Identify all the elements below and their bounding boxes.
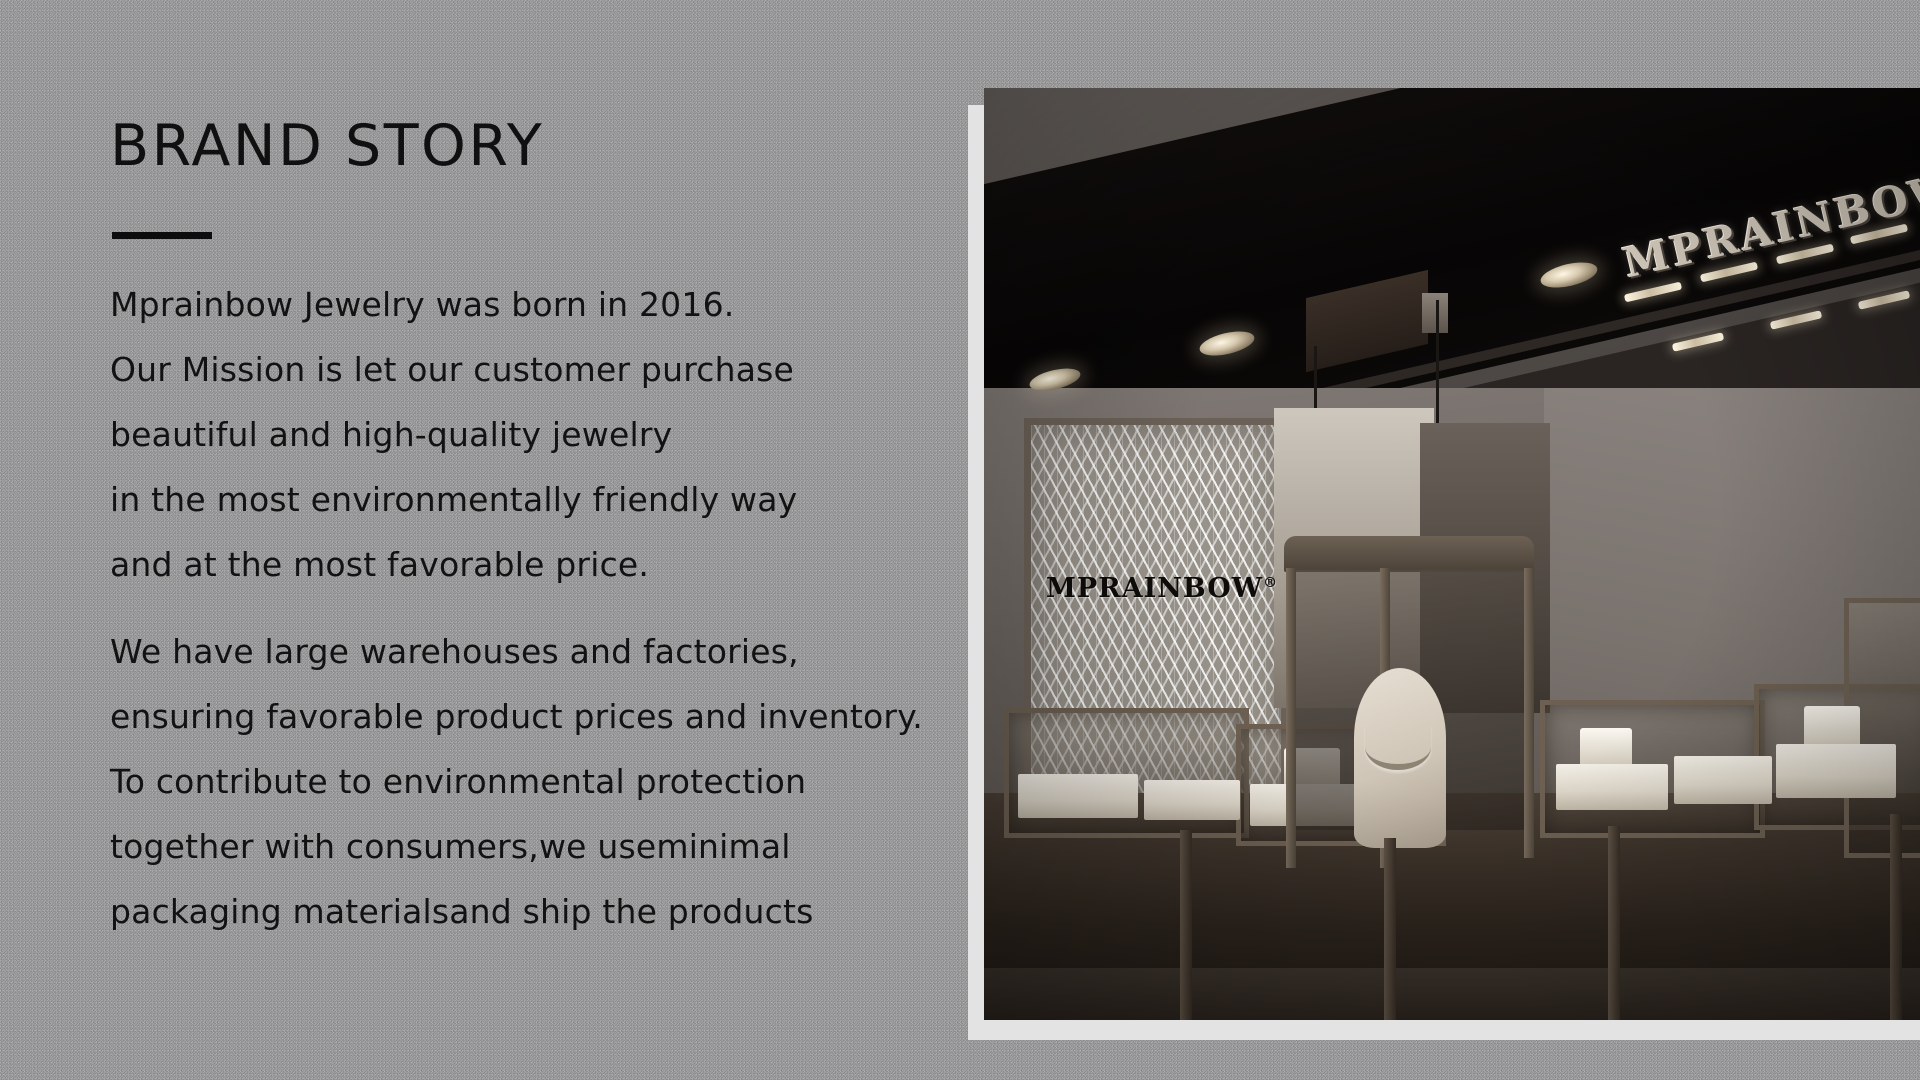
text-column: BRAND STORY Mprainbow Jewelry was born i…: [110, 118, 900, 944]
vitrine-post: [1524, 568, 1534, 858]
counter-leg: [1890, 814, 1902, 1020]
paragraph-spacer: [110, 597, 900, 619]
title-underline-rule: [112, 232, 212, 239]
hanging-panel: [1422, 293, 1448, 333]
paragraph-line: beautiful and high-quality jewelry: [110, 402, 900, 467]
display-riser: [1580, 728, 1632, 768]
paragraph-line: To contribute to environmental protectio…: [110, 749, 900, 814]
jewelry-tray: [1556, 764, 1668, 810]
paragraph-line: ensuring favorable product prices and in…: [110, 684, 900, 749]
paragraph-line: packaging materialsand ship the products: [110, 879, 900, 944]
jewelry-tray: [1674, 756, 1772, 804]
page-title: BRAND STORY: [110, 118, 900, 175]
paragraph-line: We have large warehouses and factories,: [110, 619, 900, 684]
vitrine-post: [1286, 568, 1296, 868]
paragraph-line: and at the most favorable price.: [110, 532, 900, 597]
jewelry-tray: [1018, 774, 1138, 818]
paragraph-one: Mprainbow Jewelry was born in 2016. Our …: [110, 272, 900, 597]
paragraph-line: Our Mission is let our customer purchase: [110, 337, 900, 402]
jewelry-tray: [1776, 744, 1896, 798]
paragraph-line: in the most environmentally friendly way: [110, 467, 900, 532]
necklace: [1365, 724, 1431, 770]
paragraph-line: Mprainbow Jewelry was born in 2016.: [110, 272, 900, 337]
counter-leg: [1180, 830, 1192, 1020]
paragraph-line: together with consumers,we useminimal: [110, 814, 900, 879]
vitrine-canopy: [1284, 536, 1534, 572]
jewelry-tray: [1144, 780, 1240, 820]
floor: [984, 968, 1920, 1020]
wall-brand-sign: MPRAINBOW®: [1046, 573, 1278, 604]
wall-brand-sign-text: MPRAINBOW: [1046, 573, 1263, 604]
brand-story-slide: BRAND STORY Mprainbow Jewelry was born i…: [0, 0, 1920, 1080]
display-riser: [1804, 706, 1860, 748]
paragraph-two: We have large warehouses and factories, …: [110, 619, 900, 944]
registered-mark-icon: ®: [1263, 575, 1278, 591]
counter-leg: [1384, 838, 1396, 1020]
store-interior-photo: MPRAINBOW® MPRAINBOW®: [984, 88, 1920, 1020]
counter-leg: [1608, 826, 1620, 1020]
